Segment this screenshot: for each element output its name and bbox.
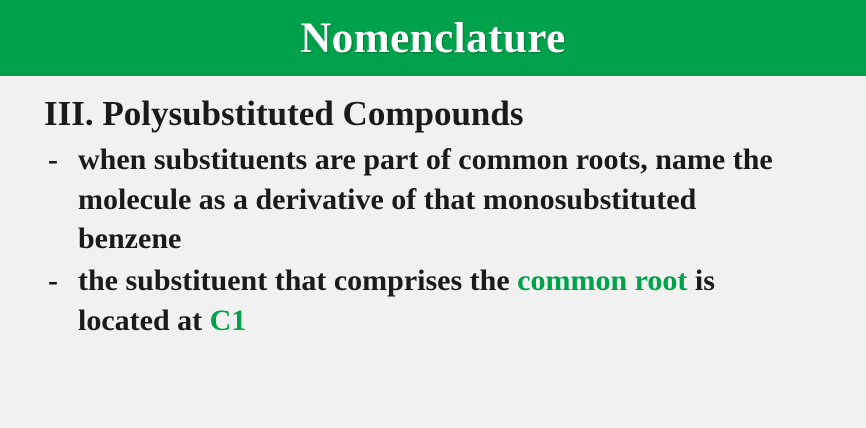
list-item: - when substituents are part of common r… bbox=[44, 140, 846, 259]
list-item: - the substituent that comprises the com… bbox=[44, 261, 846, 340]
slide: Nomenclature III. Polysubstituted Compou… bbox=[0, 0, 866, 428]
bullet-text-highlight-c1: C1 bbox=[210, 304, 247, 337]
bullet-text: the substituent that comprises the commo… bbox=[78, 261, 778, 340]
slide-title-bar: Nomenclature bbox=[0, 0, 866, 76]
slide-body: III. Polysubstituted Compounds - when su… bbox=[0, 76, 866, 340]
bullet-marker: - bbox=[44, 261, 78, 301]
bullet-text-lead: the substituent that comprises the bbox=[78, 264, 517, 297]
section-heading: III. Polysubstituted Compounds bbox=[44, 94, 846, 134]
bullet-text-highlight-common-root: common root bbox=[517, 264, 687, 297]
bullet-marker: - bbox=[44, 140, 78, 180]
bullet-text: when substituents are part of common roo… bbox=[78, 140, 778, 259]
page-title: Nomenclature bbox=[300, 17, 566, 60]
bullet-list: - when substituents are part of common r… bbox=[44, 140, 846, 340]
